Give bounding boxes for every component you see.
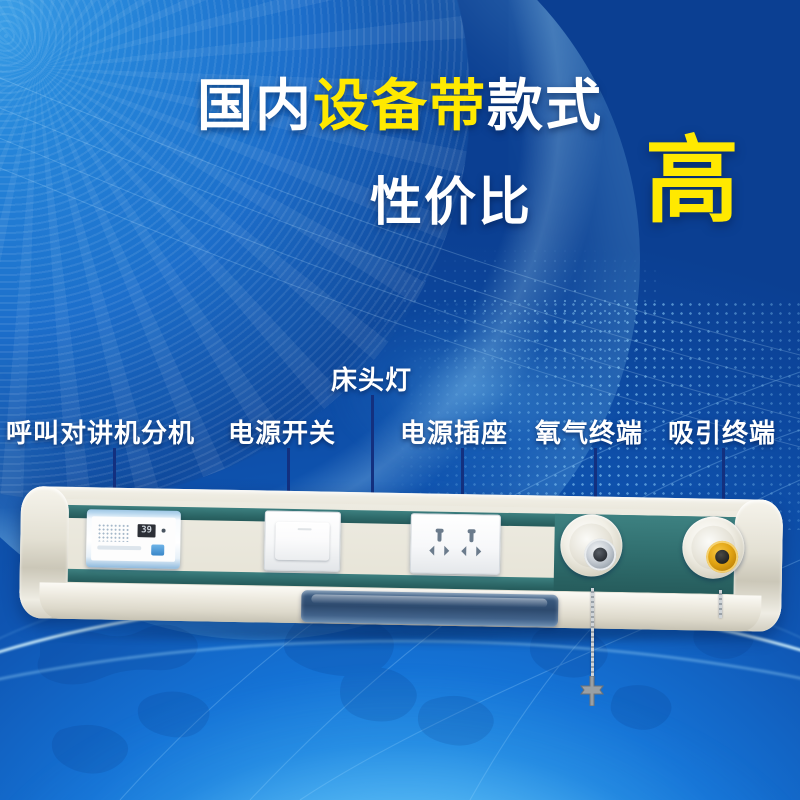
promo-banner: 国内设备带款式 性价比 高 呼叫对讲机分机 电源开关 床头灯 电源插座 氧气终端… (0, 0, 800, 800)
socket-outlet-right[interactable] (456, 531, 486, 558)
lamp-gloss-highlight (311, 594, 547, 607)
intercom-display: 39 (137, 524, 155, 537)
intercom-indicator-led (162, 529, 166, 533)
oxygen-terminal-ring (569, 523, 614, 568)
socket-pin-left (456, 546, 466, 556)
switch-rocker[interactable] (275, 522, 330, 561)
pull-cord-handle-icon[interactable] (579, 676, 605, 706)
switch-mark (298, 528, 312, 530)
speaker-grille-icon (97, 523, 129, 542)
bedside-lamp-fixture[interactable] (301, 590, 559, 627)
intercom-call-button[interactable] (151, 544, 164, 555)
callout-highlight-shapes (0, 0, 800, 800)
oxygen-terminal-core (584, 538, 617, 571)
socket-pin-vertical (437, 531, 441, 542)
oxygen-terminal-port (593, 548, 607, 562)
power-switch-plate[interactable] (264, 510, 341, 571)
intercom-faceplate: 39 (91, 516, 176, 562)
intercom-slot (97, 545, 141, 550)
suction-pull-cord[interactable] (719, 590, 722, 618)
suction-terminal-ring (691, 525, 736, 570)
socket-pin-vertical (469, 531, 473, 542)
socket-pin-right (444, 546, 454, 556)
socket-pin-left (424, 545, 434, 555)
suction-terminal-core (706, 541, 739, 574)
oxygen-pull-cord[interactable] (591, 588, 594, 688)
medical-bed-head-panel: 39 (19, 486, 784, 650)
socket-outlet-left[interactable] (424, 530, 454, 557)
socket-pin-right (476, 546, 486, 556)
power-socket-plate[interactable] (410, 513, 501, 575)
nurse-call-intercom-unit[interactable]: 39 (86, 509, 181, 569)
suction-terminal-port (715, 550, 729, 564)
